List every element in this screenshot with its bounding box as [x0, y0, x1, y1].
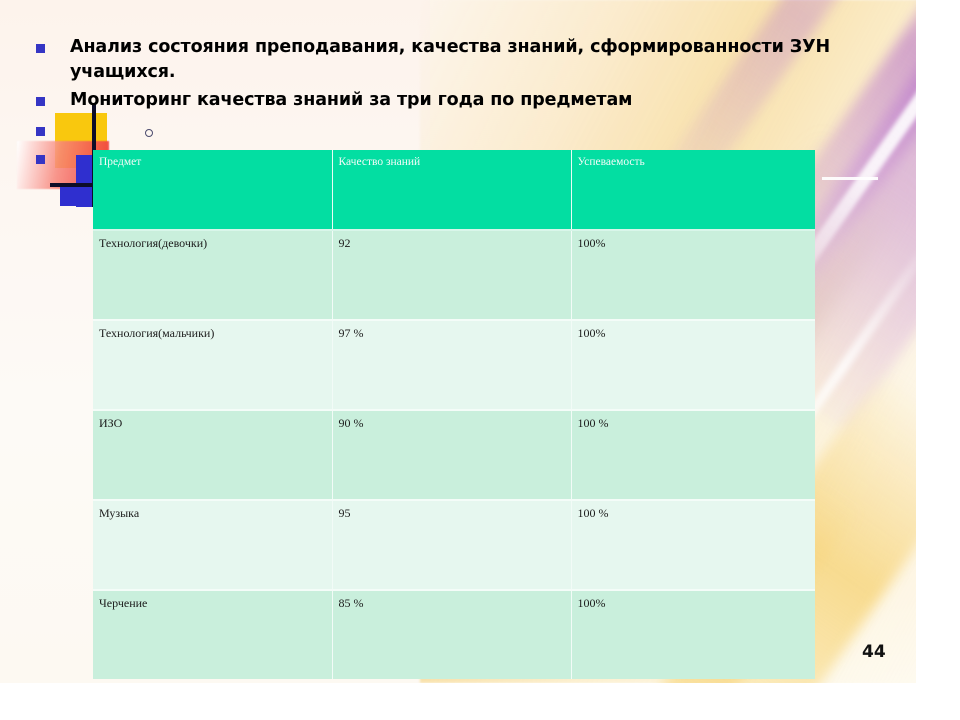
- quality-monitoring-table: Предмет Качество знаний Успеваемость Тех…: [93, 150, 815, 679]
- cell-performance: 100%: [571, 230, 815, 320]
- cell-performance: 100 %: [571, 410, 815, 500]
- cell-quality: 95: [332, 500, 571, 590]
- cell-performance: 100%: [571, 320, 815, 410]
- decorative-white-rule: [822, 177, 878, 180]
- bottom-white-margin: [0, 683, 960, 720]
- table-header-row: Предмет Качество знаний Успеваемость: [93, 150, 815, 230]
- cell-quality: 90 %: [332, 410, 571, 500]
- column-header-subject: Предмет: [93, 150, 332, 230]
- square-bullet-icon-2: [36, 97, 45, 106]
- table-row: Черчение 85 % 100%: [93, 590, 815, 679]
- cell-subject: ИЗО: [93, 410, 332, 500]
- cell-quality: 97 %: [332, 320, 571, 410]
- cell-quality: 92: [332, 230, 571, 320]
- square-bullet-icon-1: [36, 44, 45, 53]
- table-row: Технология(девочки) 92 100%: [93, 230, 815, 320]
- column-header-performance: Успеваемость: [571, 150, 815, 230]
- cell-subject: Технология(мальчики): [93, 320, 332, 410]
- cell-subject: Музыка: [93, 500, 332, 590]
- table-row: Музыка 95 100 %: [93, 500, 815, 590]
- page-number: 44: [862, 642, 886, 662]
- decorative-blue-square-small: [60, 185, 86, 206]
- cell-performance: 100%: [571, 590, 815, 679]
- cell-quality: 85 %: [332, 590, 571, 679]
- heading-analysis-title: Анализ состояния преподавания, качества …: [70, 35, 860, 85]
- slide-canvas: Анализ состояния преподавания, качества …: [0, 0, 960, 720]
- right-white-margin: [916, 0, 960, 720]
- cell-subject: Черчение: [93, 590, 332, 679]
- cell-subject: Технология(девочки): [93, 230, 332, 320]
- cell-performance: 100 %: [571, 500, 815, 590]
- table-row: ИЗО 90 % 100 %: [93, 410, 815, 500]
- square-bullet-icon-3: [36, 127, 45, 136]
- heading-monitoring-title: Мониторинг качества знаний за три года п…: [70, 88, 860, 113]
- table-row: Технология(мальчики) 97 % 100%: [93, 320, 815, 410]
- circle-bullet-icon: [145, 129, 153, 137]
- column-header-quality: Качество знаний: [332, 150, 571, 230]
- square-bullet-icon-4: [36, 155, 45, 164]
